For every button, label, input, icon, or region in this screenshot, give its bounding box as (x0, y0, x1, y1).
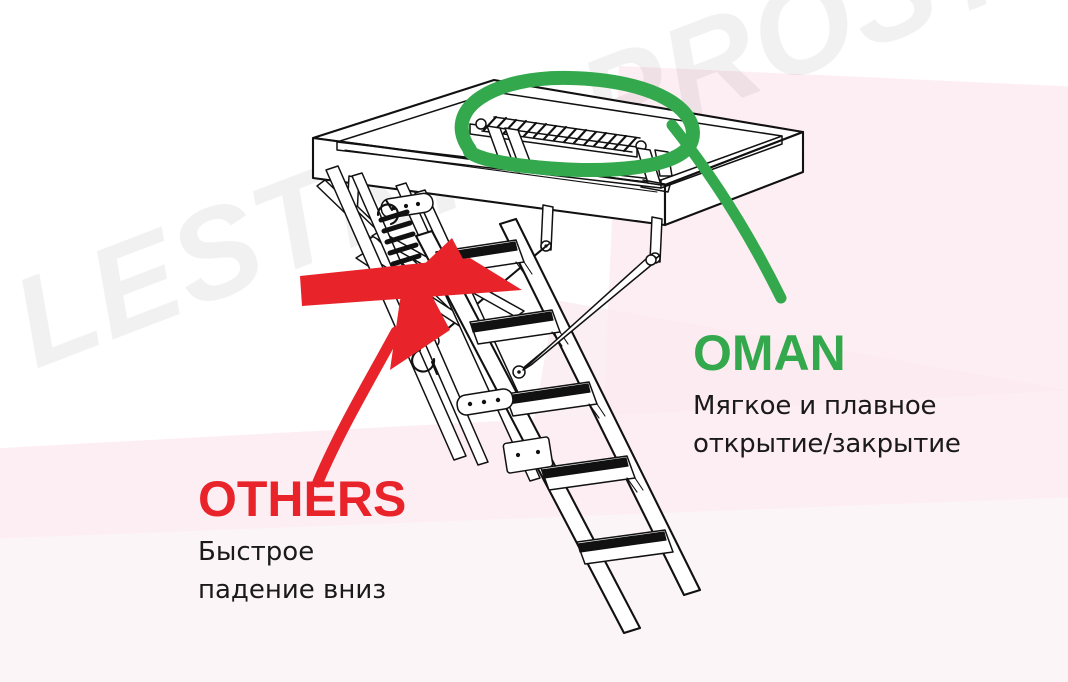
label-others: OTHERS Быстрое падение вниз (198, 474, 406, 609)
promo-image-canvas: LESTNIC-PROSTO.RU .ln { fill:none; strok… (0, 0, 1068, 682)
oman-title: OMAN (693, 328, 961, 378)
label-oman: OMAN Мягкое и плавное открытие/закрытие (693, 328, 961, 463)
oman-subtitle: Мягкое и плавное открытие/закрытие (693, 388, 961, 463)
others-subtitle: Быстрое падение вниз (198, 534, 406, 609)
others-title: OTHERS (198, 474, 406, 524)
